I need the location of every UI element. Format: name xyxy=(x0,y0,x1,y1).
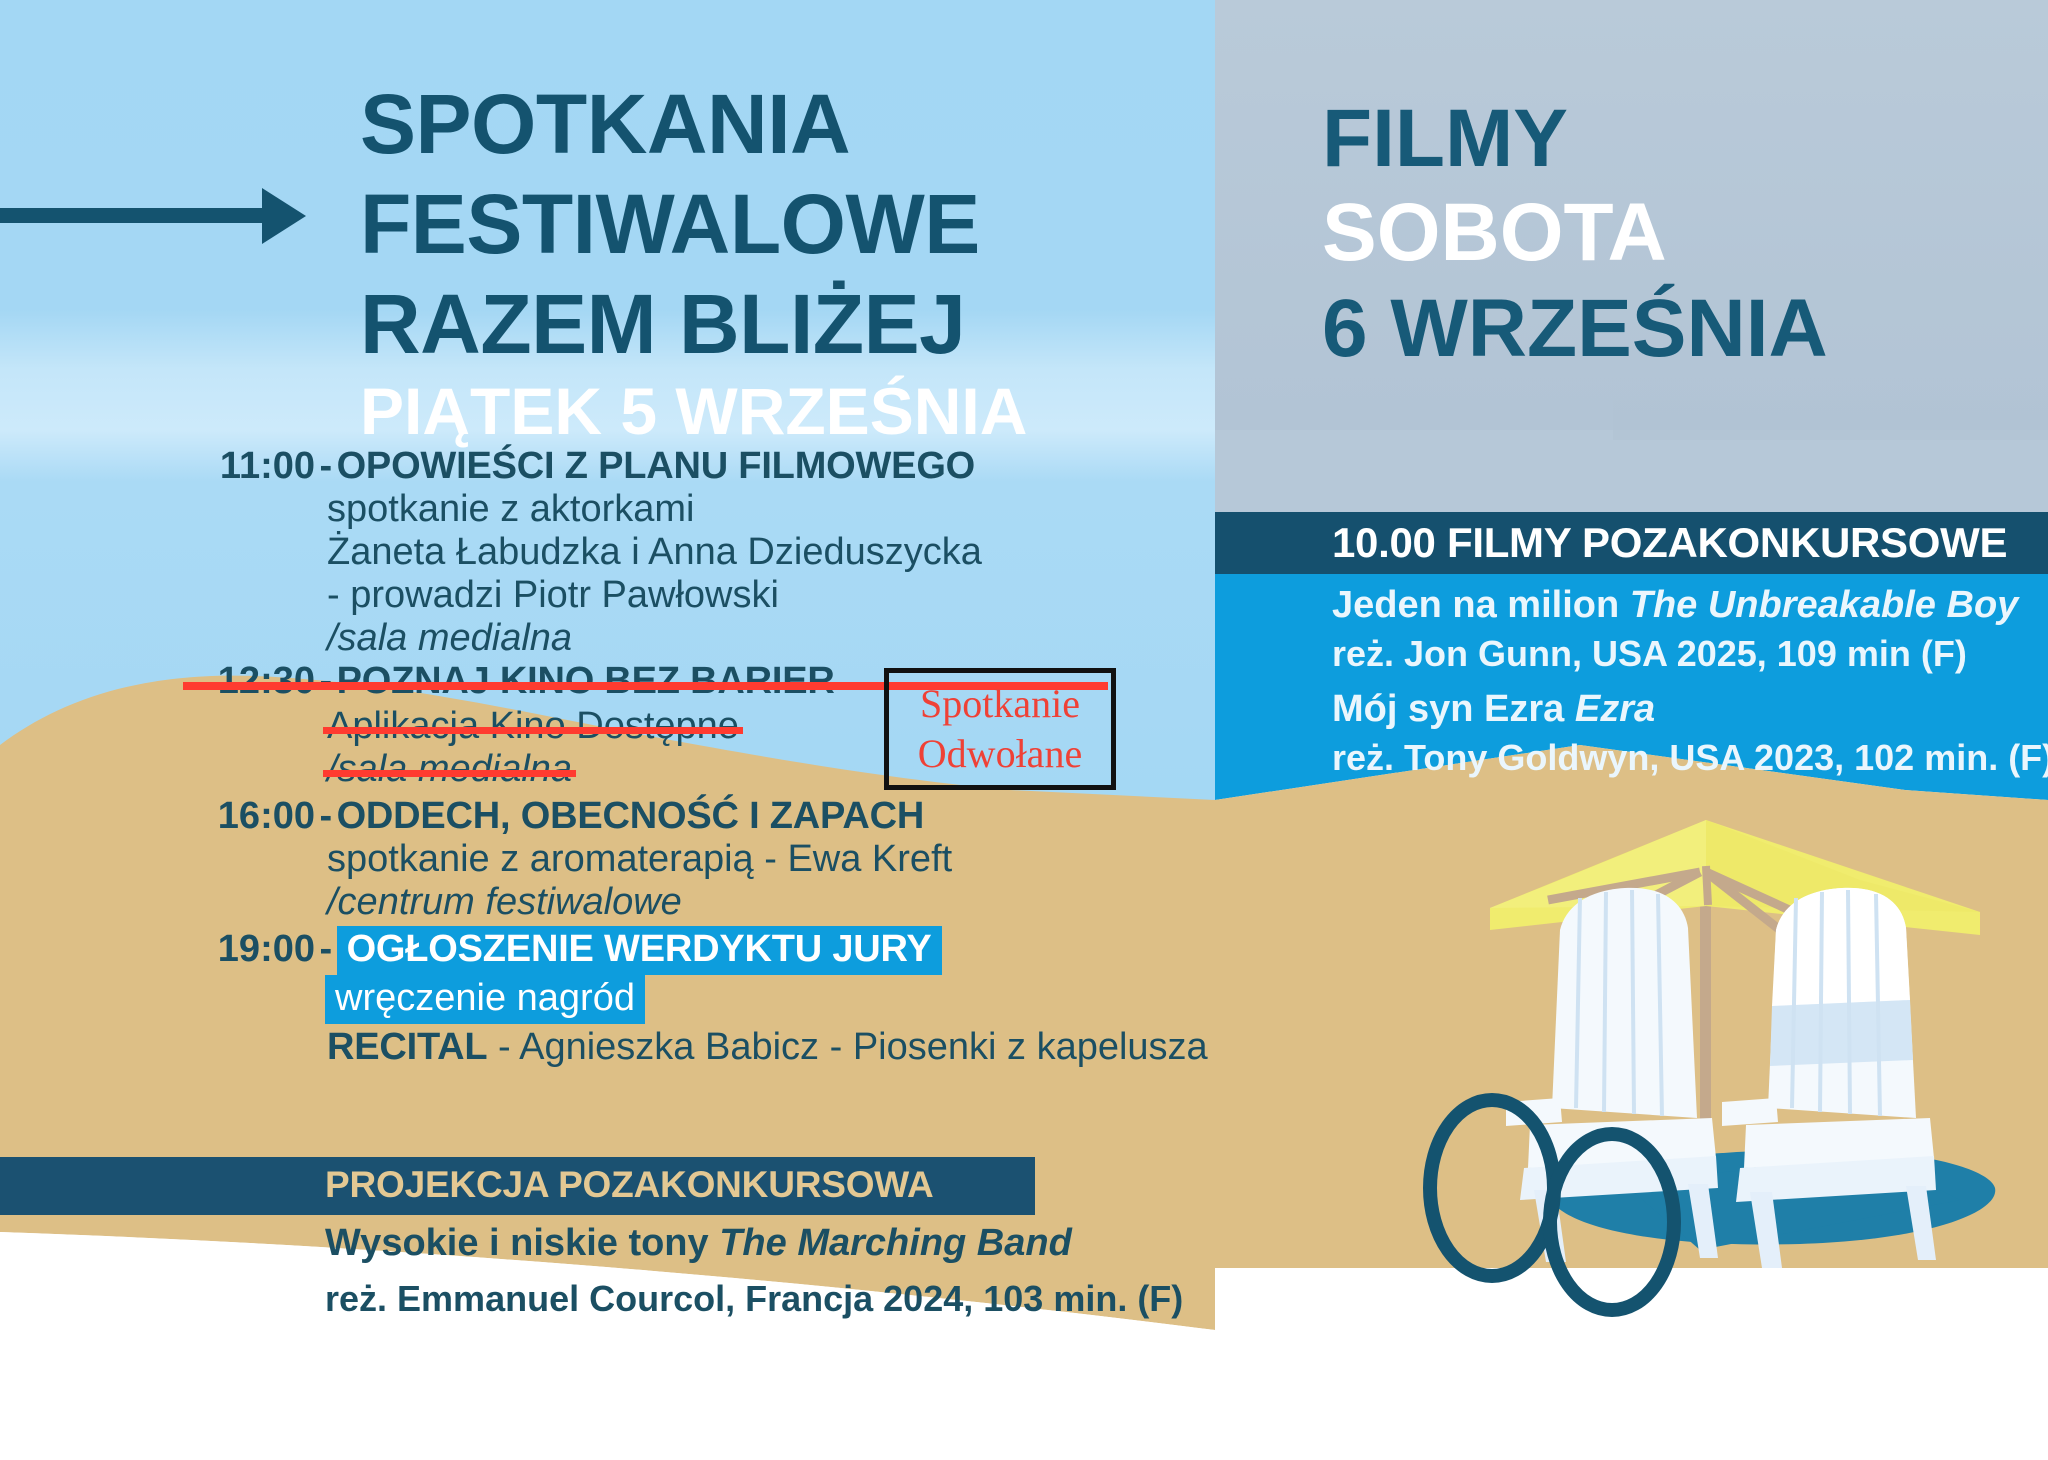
schedule-item-detail: spotkanie z aktorkami xyxy=(327,488,1205,531)
white-foreground-right xyxy=(1215,1268,2048,1460)
schedule-item-headline: 19:00 - OGŁOSZENIE WERDYKTU JURY xyxy=(175,926,1205,975)
schedule-item-highlighted: 19:00 - OGŁOSZENIE WERDYKTU JURY wręczen… xyxy=(175,926,1205,1069)
projection-film-meta: reż. Emmanuel Courcol, Francja 2024, 103… xyxy=(325,1278,1183,1320)
cancelled-venue-text: /sala medialna xyxy=(327,748,572,791)
right-arrow-head-icon xyxy=(262,188,306,244)
schedule-item-time: 16:00 xyxy=(175,795,315,838)
left-date-subtitle: PIĄTEK 5 WRZEŚNIA xyxy=(360,378,1027,444)
right-title-line-3: 6 WRZEŚNIA xyxy=(1322,288,1828,370)
schedule-item-title: POZNAJ KINO BEZ BARIER xyxy=(337,660,835,702)
highlight-detail-text: wręczenie nagród xyxy=(325,975,645,1024)
film-title-original: Ezra xyxy=(1575,688,1655,730)
projection-film-title-pl: Wysokie i niskie tony xyxy=(325,1222,719,1264)
schedule-item-detail: wręczenie nagród xyxy=(325,975,1205,1024)
film-title-original: The Unbreakable Boy xyxy=(1630,584,2019,626)
page-title-line-3: RAZEM BLIŻEJ xyxy=(360,282,965,366)
panel-tone-band xyxy=(1613,400,2048,440)
schedule-item-dash: - xyxy=(319,795,332,837)
schedule-item-time: 19:00 xyxy=(175,928,315,971)
film-list-item: Mój syn Ezra Ezra reż. Tony Goldwyn, USA… xyxy=(1332,684,2048,782)
chair-arm xyxy=(1722,1098,1778,1126)
schedule-item-time: 11:00 xyxy=(175,445,315,488)
status-badge-cancelled: Spotkanie Odwołane xyxy=(884,668,1116,790)
schedule-item-headline: 11:00 - OPOWIEŚCI Z PLANU FILMOWEGO xyxy=(175,445,1205,488)
schedule-item-title: OGŁOSZENIE WERDYKTU JURY xyxy=(337,926,942,975)
right-title-line-2: SOBOTA xyxy=(1322,192,1667,274)
schedule-item-detail: Żaneta Łabudzka i Anna Dzieduszycka xyxy=(327,531,1205,574)
recital-text: - Agnieszka Babicz - Piosenki z kapelusz… xyxy=(487,1026,1207,1068)
recital-line: RECITAL - Agnieszka Babicz - Piosenki z … xyxy=(327,1026,1205,1069)
projection-film-title-original: The Marching Band xyxy=(719,1222,1072,1264)
projection-banner-label: PROJEKCJA POZAKONKURSOWA xyxy=(325,1164,934,1206)
schedule-item-venue: /centrum festiwalowe xyxy=(327,881,1205,924)
film-title-pl: Mój syn Ezra xyxy=(1332,688,1575,730)
right-arrow-icon xyxy=(0,208,268,223)
umbrella-rib xyxy=(1706,866,1708,905)
schedule-item-venue: /sala medialna xyxy=(327,617,1205,660)
schedule-item-time: 12:30 xyxy=(175,660,315,703)
schedule-item-detail: - prowadzi Piotr Pawłowski xyxy=(327,574,1205,617)
film-title: Mój syn Ezra Ezra xyxy=(1332,684,2048,734)
chair-back xyxy=(1552,888,1697,1118)
film-list: Jeden na milion The Unbreakable Boy reż.… xyxy=(1332,580,2048,781)
film-meta: reż. Tony Goldwyn, USA 2023, 102 min. (F… xyxy=(1332,734,2048,782)
schedule-item-dash: - xyxy=(319,445,332,487)
festival-program-poster: SPOTKANIA FESTIWALOWE RAZEM BLIŻEJ PIĄTE… xyxy=(0,0,2048,1460)
film-title: Jeden na milion The Unbreakable Boy xyxy=(1332,580,2048,630)
schedule-item-headline: 16:00 - ODDECH, OBECNOŚĆ I ZAPACH xyxy=(175,795,1205,838)
schedule-item: 16:00 - ODDECH, OBECNOŚĆ I ZAPACH spotka… xyxy=(175,795,1205,924)
film-list-item: Jeden na milion The Unbreakable Boy reż.… xyxy=(1332,580,2048,678)
schedule-item-title: OPOWIEŚCI Z PLANU FILMOWEGO xyxy=(337,445,975,487)
schedule-item-dash: - xyxy=(319,928,332,970)
page-title-line-2: FESTIWALOWE xyxy=(360,182,980,266)
cancelled-detail-text: Aplikacja Kino Dostępne xyxy=(327,705,739,748)
cancel-line-1: Spotkanie xyxy=(920,679,1080,729)
schedule-item-dash: - xyxy=(319,660,332,702)
schedule-item: 11:00 - OPOWIEŚCI Z PLANU FILMOWEGO spot… xyxy=(175,445,1205,660)
film-meta: reż. Jon Gunn, USA 2025, 109 min (F) xyxy=(1332,630,2048,678)
recital-label: RECITAL xyxy=(327,1026,487,1068)
schedule-item-detail: spotkanie z aromaterapią - Ewa Kreft xyxy=(327,838,1205,881)
sky-right-panel-lower xyxy=(1215,430,2048,520)
schedule-item-title: ODDECH, OBECNOŚĆ I ZAPACH xyxy=(337,795,925,837)
right-title-line-1: FILMY xyxy=(1322,98,1568,180)
film-section-header-label: 10.00 FILMY POZAKONKURSOWE xyxy=(1332,519,2007,567)
projection-film-title: Wysokie i niskie tony The Marching Band xyxy=(325,1222,1072,1265)
cancel-line-2: Odwołane xyxy=(918,729,1082,779)
film-title-pl: Jeden na milion xyxy=(1332,584,1630,626)
page-title-line-1: SPOTKANIA xyxy=(360,82,850,166)
